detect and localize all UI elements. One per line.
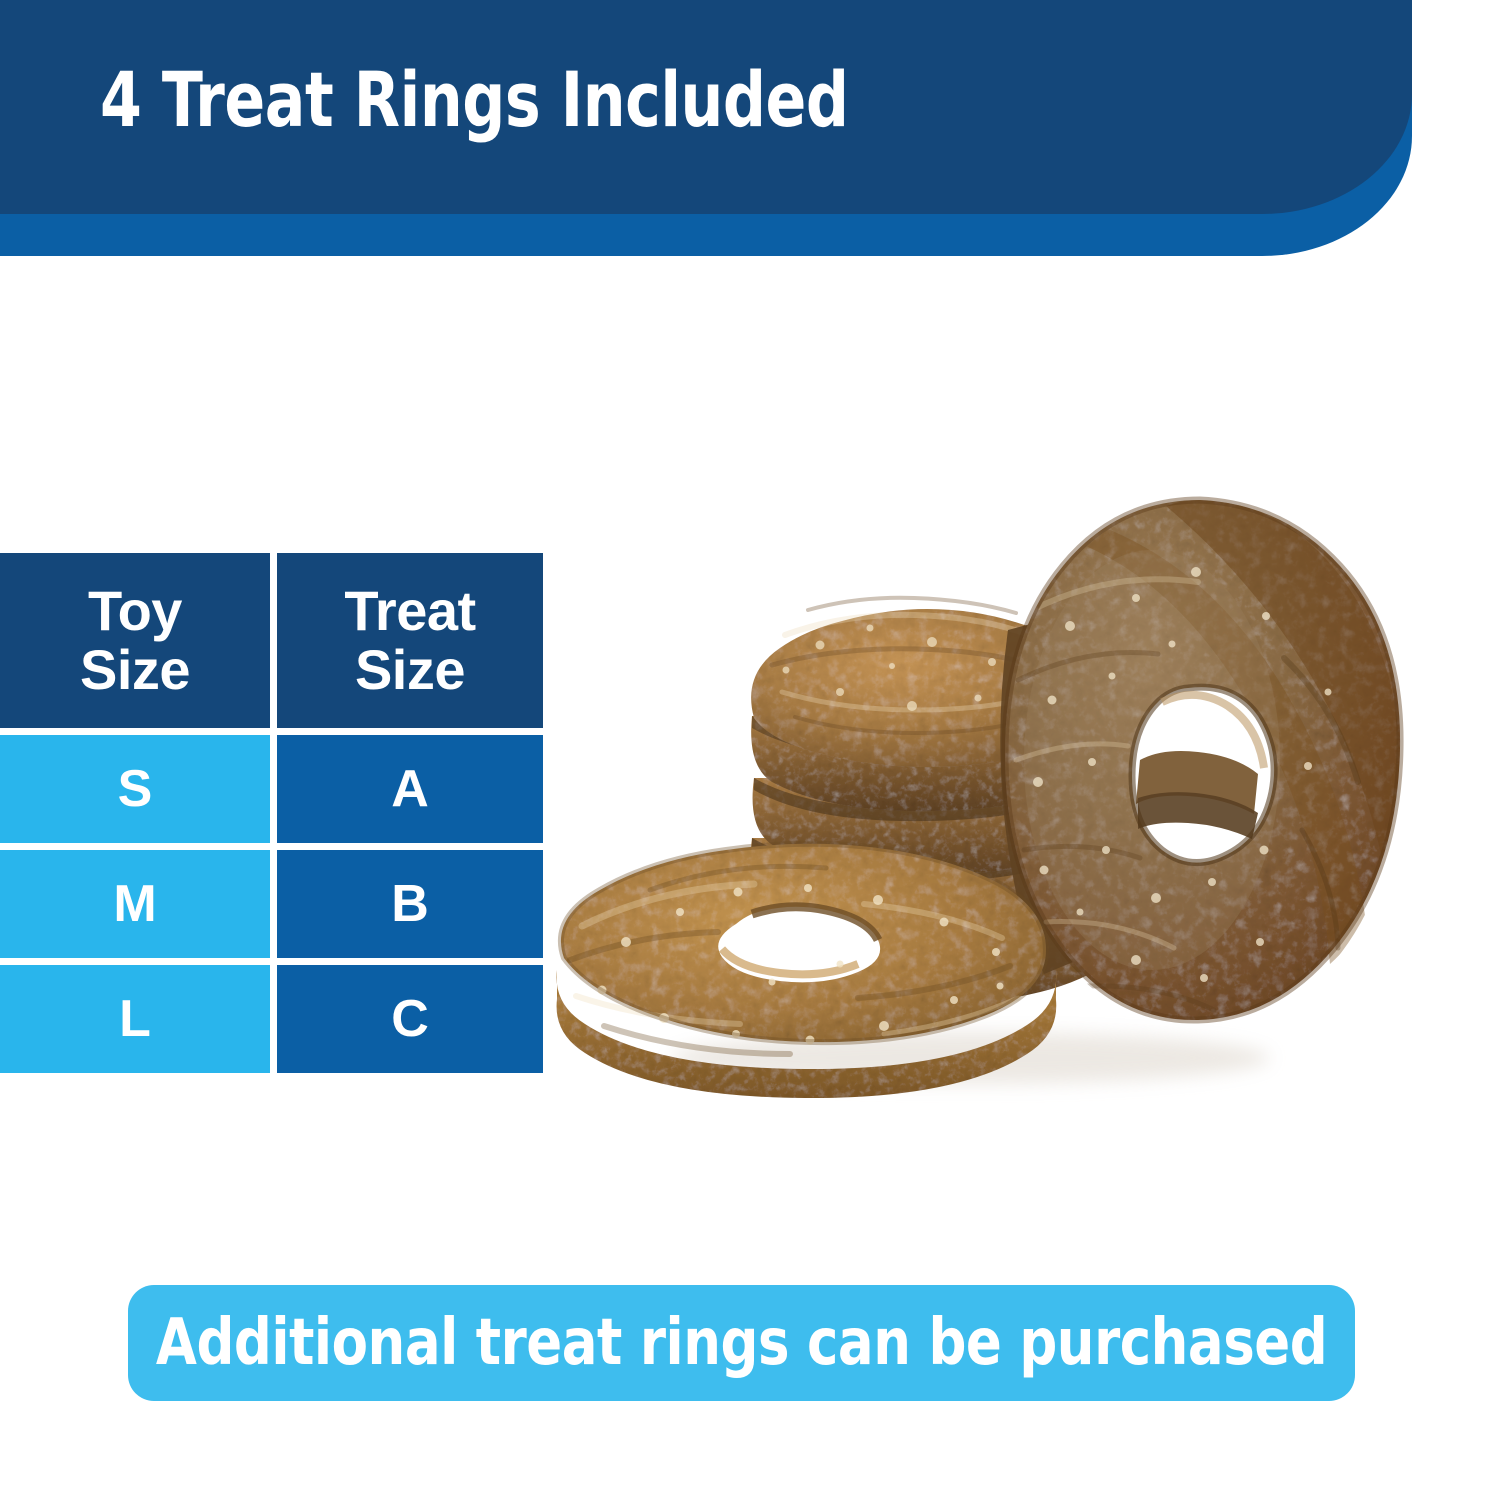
column-header-toy-size-line1: Toy	[80, 582, 190, 640]
cell-treat-size-c: C	[391, 992, 429, 1046]
cell-treat-size-a: A	[391, 762, 429, 816]
table-column-gutter	[270, 965, 277, 1073]
column-header-treat-size: Treat Size	[277, 553, 543, 728]
table-row: C	[277, 965, 543, 1073]
cell-toy-size-m: M	[113, 877, 156, 931]
treat-rings-photo	[540, 430, 1500, 1110]
table-row: S	[0, 735, 270, 843]
table-column-gutter	[270, 735, 277, 843]
cell-toy-size-l: L	[119, 992, 151, 1046]
header-banner: 4 Treat Rings Included	[0, 0, 1500, 270]
table-column-gutter	[270, 553, 277, 728]
column-header-toy-size-line2: Size	[80, 641, 190, 699]
cell-treat-size-b: B	[391, 877, 429, 931]
table-row: M	[0, 850, 270, 958]
size-chart-table: Toy Size Treat Size S A M B L C	[0, 553, 543, 1073]
column-header-treat-size-line1: Treat	[344, 582, 475, 640]
cell-toy-size-s: S	[118, 762, 153, 816]
table-row: L	[0, 965, 270, 1073]
page-title: 4 Treat Rings Included	[100, 62, 849, 138]
purchase-info-banner: Additional treat rings can be purchased	[128, 1285, 1355, 1401]
column-header-toy-size: Toy Size	[0, 553, 270, 728]
treat-ring-standing	[1000, 500, 1400, 1020]
table-row: A	[277, 735, 543, 843]
purchase-info-banner-text: Additional treat rings can be purchased	[156, 1306, 1327, 1380]
table-column-gutter	[270, 850, 277, 958]
table-row: B	[277, 850, 543, 958]
column-header-treat-size-line2: Size	[344, 641, 475, 699]
